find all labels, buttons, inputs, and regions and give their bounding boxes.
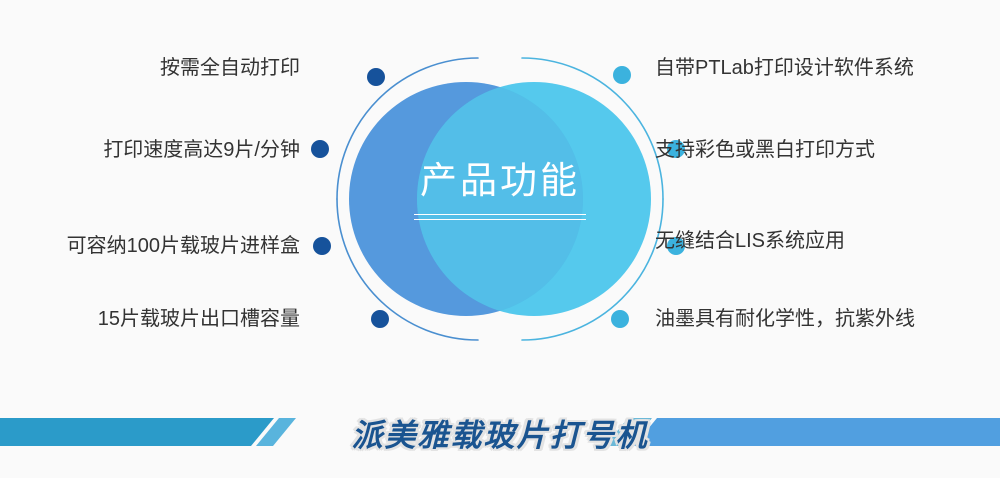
banner-title-text: 派美雅载玻片打号机 (0, 413, 1000, 459)
feature-label-right-2: 支持彩色或黑白打印方式 (655, 137, 875, 163)
left-dot-4[interactable] (371, 310, 389, 328)
feature-label-left-4: 15片载玻片出口槽容量 (98, 306, 300, 332)
right-arc-upper (522, 58, 663, 199)
bottom-banner: 派美雅载玻片打号机 (0, 400, 1000, 478)
feature-label-left-2: 打印速度高达9片/分钟 (103, 137, 300, 163)
circle-overlap (417, 82, 651, 316)
center-title-block: 产品功能 (390, 158, 610, 220)
right-dot-4[interactable] (611, 310, 629, 328)
left-dot-2[interactable] (311, 140, 329, 158)
feature-label-right-3: 无缝结合LIS系统应用 (655, 228, 845, 254)
infographic-canvas: 产品功能 按需全自动打印 打印速度高达9片/分钟 可容纳100片载玻片进样盒 1… (0, 0, 1000, 478)
feature-label-right-4: 油墨具有耐化学性，抗紫外线 (655, 306, 915, 332)
right-circle (417, 82, 651, 316)
left-arc-lower (337, 199, 478, 340)
center-title-rule-bottom (414, 219, 586, 220)
right-dot-1[interactable] (613, 66, 631, 84)
feature-label-left-1: 按需全自动打印 (160, 55, 300, 81)
left-arc-upper (337, 58, 478, 199)
right-arc-lower (522, 199, 663, 340)
center-title-rule-top (414, 214, 586, 215)
left-dot-3[interactable] (313, 237, 331, 255)
left-dot-1[interactable] (367, 68, 385, 86)
center-title-text: 产品功能 (390, 158, 610, 204)
left-circle (349, 82, 583, 316)
feature-label-right-1: 自带PTLab打印设计软件系统 (655, 55, 914, 81)
feature-label-left-3: 可容纳100片载玻片进样盒 (67, 233, 300, 259)
